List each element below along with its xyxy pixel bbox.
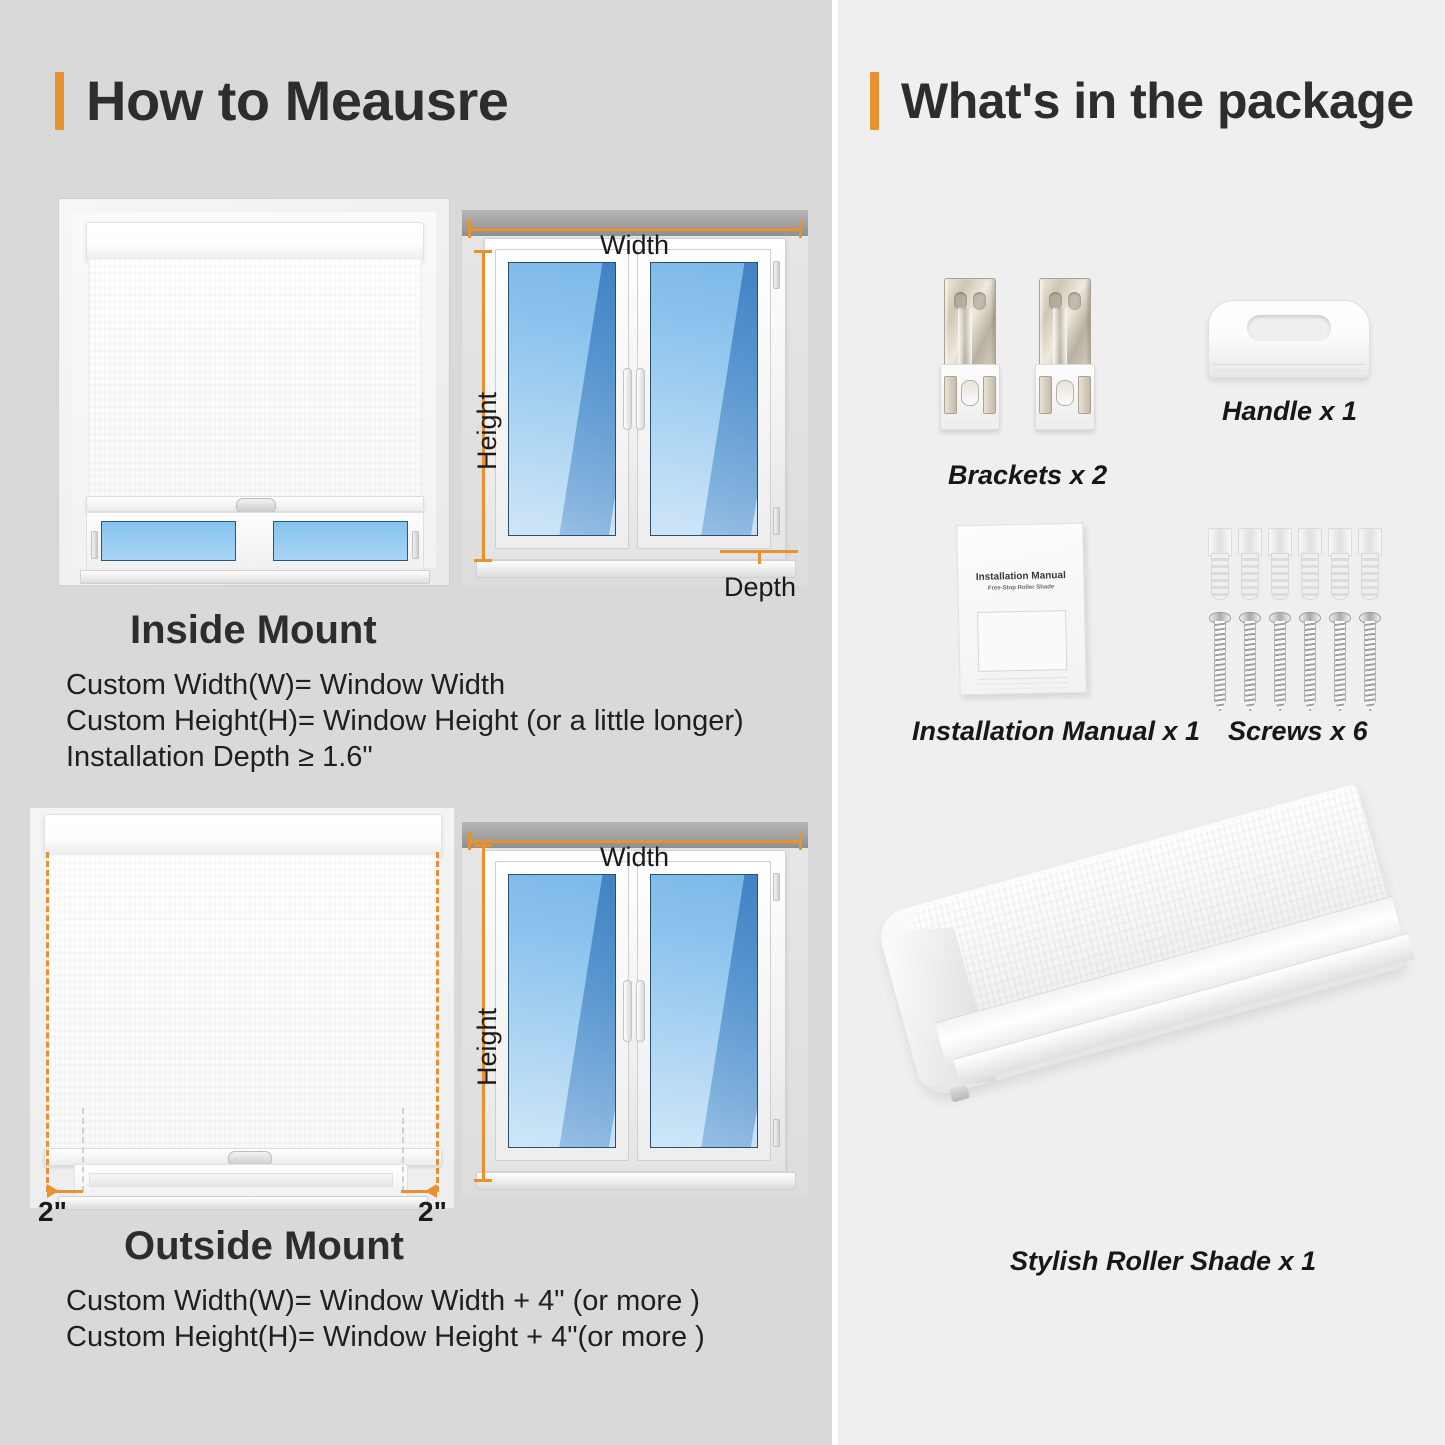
overhang-guide-left <box>46 852 49 1192</box>
outside-window-sill <box>58 1196 428 1210</box>
inside-mount-line-1: Custom Width(W)= Window Width <box>66 668 744 704</box>
package-heading: What's in the package <box>870 72 1414 130</box>
window-sash-left-2 <box>495 861 629 1161</box>
outside-mount-line-1: Custom Width(W)= Window Width + 4" (or m… <box>66 1284 705 1320</box>
outside-window-behind <box>74 1164 408 1200</box>
shade-fabric <box>88 258 422 500</box>
outside-shade-fabric <box>48 854 438 1152</box>
roller-shade-label: Stylish Roller Shade x 1 <box>1010 1246 1316 1277</box>
window-frame-2 <box>484 850 786 1172</box>
overhang-guide-right <box>436 852 439 1192</box>
how-to-measure-heading: How to Meausre <box>55 72 508 130</box>
heading-label: How to Meausre <box>86 73 508 129</box>
window-sill-outer-2 <box>476 1172 796 1190</box>
overhang-right-label: 2" <box>418 1196 447 1228</box>
window-pane-left-2 <box>508 874 616 1148</box>
screws-label: Screws x 6 <box>1228 716 1368 747</box>
outside-mount-text: Custom Width(W)= Window Width + 4" (or m… <box>66 1284 705 1356</box>
window-handles-2 <box>623 980 645 1042</box>
window-pane-right-2 <box>650 874 758 1148</box>
window-frame <box>484 238 786 560</box>
window-sash-right-2 <box>637 861 771 1161</box>
window-behind-shade <box>86 512 424 572</box>
height-label: Height <box>472 392 503 470</box>
manual-cover-title: Installation Manual <box>958 570 1083 584</box>
inside-mount-title: Inside Mount <box>130 608 377 653</box>
window-sash-left <box>495 249 629 549</box>
inside-mount-dimension-diagram: Width Height Depth <box>462 210 808 586</box>
depth-label: Depth <box>724 572 796 603</box>
outside-mount-illustration <box>30 808 454 1208</box>
outside-mount-line-2: Custom Height(H)= Window Height + 4"(or … <box>66 1320 705 1356</box>
brackets-label: Brackets x 2 <box>948 460 1107 491</box>
roller-shade-icon <box>905 890 1425 1220</box>
outside-mount-dimension-diagram: Width Height <box>462 822 808 1198</box>
window-sill <box>80 570 430 584</box>
accent-bar-icon-2 <box>870 72 879 130</box>
inside-mount-text: Custom Width(W)= Window Width Custom Hei… <box>66 668 744 776</box>
manual-label: Installation Manual x 1 <box>912 716 1200 747</box>
window-handles <box>623 368 645 430</box>
overhang-left-label: 2" <box>38 1196 67 1228</box>
package-heading-label: What's in the package <box>901 76 1414 126</box>
manual-cover-subtitle: Free-Stop Roller Shade <box>959 584 1084 593</box>
window-pane-right <box>650 262 758 536</box>
shade-valance <box>86 222 424 260</box>
handle-icon <box>1208 300 1370 378</box>
height-label-2: Height <box>472 1008 503 1086</box>
bracket-icon <box>940 278 998 428</box>
handle-label: Handle x 1 <box>1222 396 1357 427</box>
inside-mount-illustration <box>58 198 450 586</box>
accent-bar-icon <box>55 72 64 130</box>
width-label: Width <box>600 230 669 261</box>
window-sash-right <box>637 249 771 549</box>
width-label-2: Width <box>600 842 669 873</box>
inside-mount-line-3: Installation Depth ≥ 1.6" <box>66 740 744 776</box>
window-pane-left <box>508 262 616 536</box>
manual-icon: Installation Manual Free-Stop Roller Sha… <box>956 523 1087 696</box>
outside-mount-title: Outside Mount <box>124 1224 404 1269</box>
infographic-page: How to Meausre <box>0 0 1445 1445</box>
outside-shade-valance <box>44 814 442 856</box>
bracket-icon-2 <box>1035 278 1093 428</box>
inside-mount-line-2: Custom Height(H)= Window Height (or a li… <box>66 704 744 740</box>
